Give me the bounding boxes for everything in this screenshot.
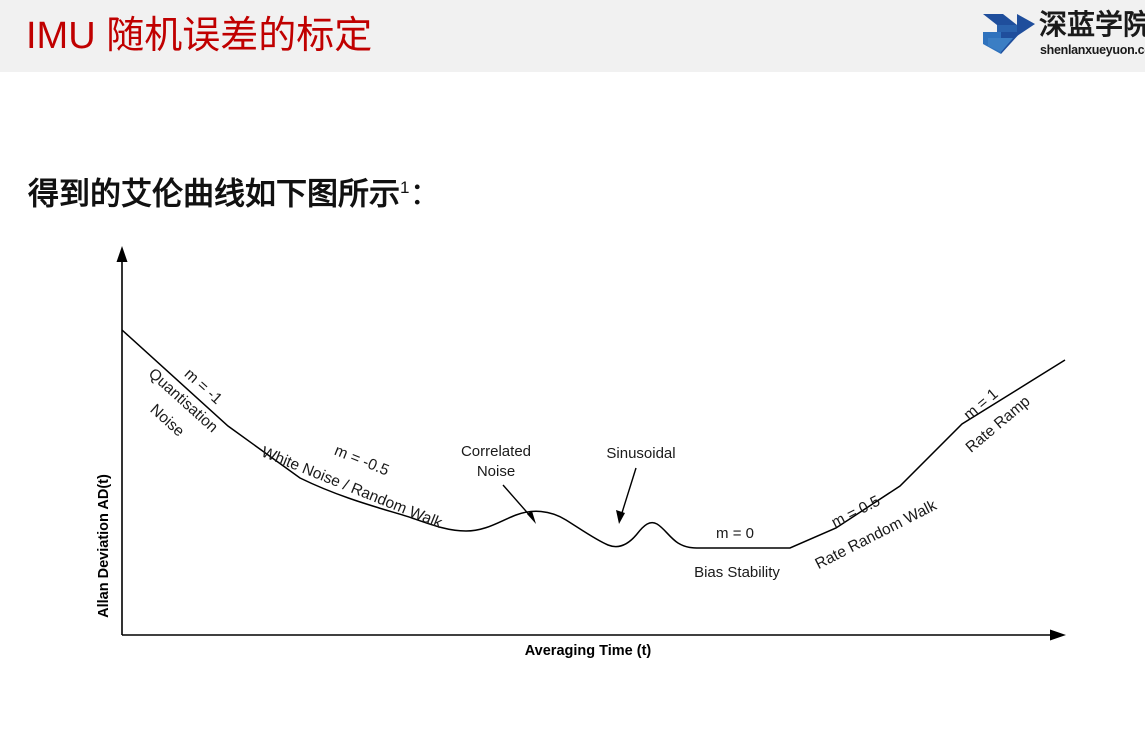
- annotation-quantisation-noise: m = -1 Quantisation Noise: [145, 365, 225, 440]
- page-title: IMU 随机误差的标定: [26, 10, 372, 62]
- region-label-correlated-line2: Noise: [477, 463, 515, 480]
- region-label-correlated-line1: Correlated: [461, 443, 531, 460]
- annotation-rate-ramp: m = 1 Rate Ramp: [961, 385, 1034, 456]
- annotation-rate-random-walk: m = 0.5 Rate Random Walk: [812, 493, 939, 573]
- logo-name-cn: 深蓝学院: [1039, 9, 1145, 41]
- allan-deviation-chart: Allan Deviation AD(t) Averaging Time (t)…: [0, 228, 1145, 678]
- x-axis: [122, 630, 1066, 641]
- slope-label-m-0: m = 0: [716, 525, 754, 542]
- sinusoidal-pointer-arrow: [616, 468, 636, 524]
- y-axis-title: Allan Deviation AD(t): [96, 474, 112, 618]
- annotation-sinusoidal: Sinusoidal: [606, 445, 675, 524]
- brand-logo: 深蓝学院 shenlanxueyuon.com: [983, 4, 1135, 66]
- logo-name-en: shenlanxueyuon.com: [1040, 43, 1145, 57]
- annotation-bias-stability: m = 0 Bias Stability: [694, 525, 780, 581]
- slide-subtitle-text: 得到的艾伦曲线如下图所示: [28, 176, 400, 211]
- slide-subtitle-colon: ：: [409, 176, 440, 211]
- slide-subtitle: 得到的艾伦曲线如下图所示1：: [28, 168, 440, 214]
- region-label-bias-stability: Bias Stability: [694, 564, 780, 581]
- x-axis-title: Averaging Time (t): [525, 643, 652, 659]
- region-label-sinusoidal: Sinusoidal: [606, 445, 675, 462]
- y-axis: [117, 246, 128, 635]
- logo-mark-icon: [983, 8, 1035, 60]
- annotation-white-noise: m = -0.5 White Noise / Random Walk: [259, 442, 445, 532]
